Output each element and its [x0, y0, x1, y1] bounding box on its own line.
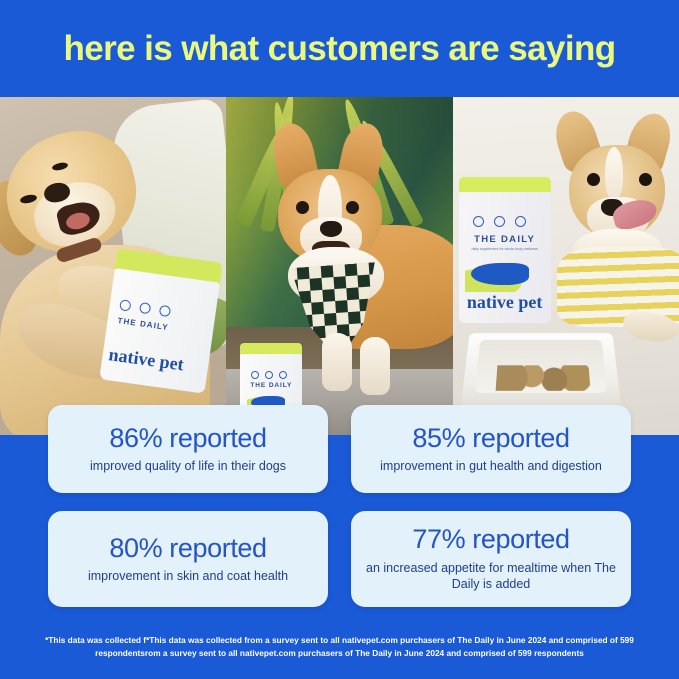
product-tub: THE DAILY native pet — [99, 248, 222, 393]
product-name: THE DAILY — [240, 382, 302, 389]
benefit-icons — [119, 299, 171, 317]
tub-body: THE DAILY native pet — [99, 268, 220, 394]
photo-corgi: THE DAILY native pet — [226, 97, 452, 435]
promo-graphic: here is what customers are saying — [0, 0, 679, 679]
product-name: THE DAILY — [459, 234, 551, 245]
headline-band: here is what customers are saying — [0, 0, 679, 97]
stat-value: 77% reported — [412, 525, 569, 554]
stat-description: improvement in skin and coat health — [88, 568, 288, 585]
brand-name: native pet — [459, 292, 551, 313]
benefit-icon-3 — [515, 216, 526, 227]
kibble — [495, 365, 590, 391]
photo-golden-retriever: THE DAILY native pet — [0, 97, 226, 435]
stat-value: 86% reported — [109, 424, 266, 453]
stat-card-grid: 86% reported improved quality of life in… — [48, 405, 631, 607]
page-title: here is what customers are saying — [63, 31, 615, 66]
food-bowl — [459, 333, 621, 414]
dog-face-blaze — [605, 147, 623, 199]
stat-description: improved quality of life in their dogs — [90, 458, 286, 475]
benefit-icon-3 — [159, 305, 171, 317]
stat-value: 80% reported — [109, 534, 266, 563]
dog-eye-right — [639, 173, 652, 186]
benefit-icon-2 — [139, 302, 151, 314]
stat-card: 77% reported an increased appetite for m… — [351, 511, 631, 607]
footnote-disclaimer: *This data was collected f*This data was… — [22, 634, 657, 660]
benefit-icon-1 — [119, 299, 131, 311]
dog-eye-left — [587, 173, 600, 186]
photo-strip: THE DAILY native pet — [0, 97, 679, 435]
tub-body: THE DAILY daily supplement for whole-bod… — [459, 192, 551, 323]
brand-name: native pet — [107, 344, 185, 375]
photo-chihuahua: THE DAILY daily supplement for whole-bod… — [453, 97, 679, 435]
leaping-dog-logo-icon — [465, 258, 545, 292]
benefit-icon-3 — [279, 371, 287, 379]
benefit-icon-2 — [494, 216, 505, 227]
stat-description: an increased appetite for mealtime when … — [361, 560, 621, 593]
benefit-icons — [251, 371, 287, 379]
stat-card: 85% reported improvement in gut health a… — [351, 405, 631, 493]
benefit-icon-1 — [473, 216, 484, 227]
dog-leg-right — [360, 337, 390, 395]
product-tagline: daily supplement for whole-body wellness — [459, 247, 551, 251]
stat-description: improvement in gut health and digestion — [380, 458, 602, 475]
benefit-icons — [473, 216, 526, 227]
stat-card: 86% reported improved quality of life in… — [48, 405, 328, 493]
product-tub: THE DAILY daily supplement for whole-bod… — [459, 177, 551, 323]
dog-leg-left — [322, 333, 352, 391]
product-name: THE DAILY — [117, 316, 169, 332]
stat-value: 85% reported — [412, 424, 569, 453]
benefit-icon-1 — [251, 371, 259, 379]
benefit-icon-2 — [265, 371, 273, 379]
stat-card: 80% reported improvement in skin and coa… — [48, 511, 328, 607]
